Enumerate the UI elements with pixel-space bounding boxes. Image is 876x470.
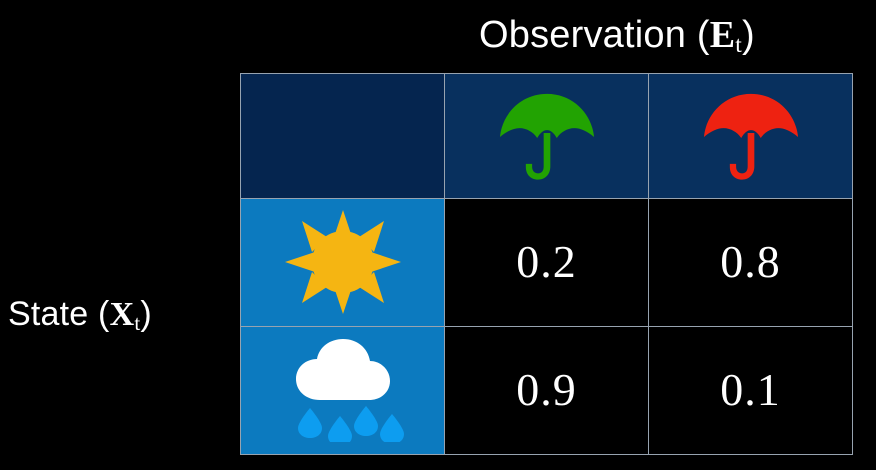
umbrella-icon-red-wrap bbox=[649, 74, 852, 198]
sun-icon-wrap bbox=[241, 199, 444, 326]
table-header-row bbox=[241, 74, 853, 199]
observation-label-subscript: t bbox=[735, 32, 742, 58]
state-label-prefix: State ( bbox=[8, 295, 110, 333]
state-label-variable: X bbox=[110, 296, 135, 333]
rain-cloud-icon-wrap bbox=[241, 327, 444, 454]
state-label-suffix: ) bbox=[140, 295, 152, 333]
row-header-rainy bbox=[241, 326, 445, 454]
observation-label-suffix: ) bbox=[742, 14, 755, 56]
umbrella-icon bbox=[498, 88, 596, 184]
table-row: 0.9 0.1 bbox=[241, 326, 853, 454]
cell-rainy-umbrella-red: 0.1 bbox=[649, 326, 853, 454]
observation-label-variable: E bbox=[710, 14, 736, 56]
observation-label-prefix: Observation ( bbox=[479, 14, 710, 56]
table-row: 0.2 0.8 bbox=[241, 198, 853, 326]
cell-sunny-umbrella-red: 0.8 bbox=[649, 198, 853, 326]
cell-rainy-umbrella-green: 0.9 bbox=[445, 326, 649, 454]
observation-axis-label: Observation (Et) bbox=[479, 13, 755, 62]
cell-sunny-umbrella-green: 0.2 bbox=[445, 198, 649, 326]
row-header-sunny bbox=[241, 198, 445, 326]
sensor-model-table: 0.2 0.8 0.9 0 bbox=[240, 73, 853, 455]
rain-cloud-icon bbox=[278, 338, 408, 442]
umbrella-icon-green-wrap bbox=[445, 74, 648, 198]
table-corner-cell bbox=[241, 74, 445, 199]
column-header-umbrella-green bbox=[445, 74, 649, 199]
state-axis-label: State (Xt) bbox=[8, 294, 152, 338]
state-label-subscript: t bbox=[134, 311, 140, 335]
column-header-umbrella-red bbox=[649, 74, 853, 199]
sun-icon bbox=[285, 210, 401, 314]
umbrella-icon bbox=[702, 88, 800, 184]
